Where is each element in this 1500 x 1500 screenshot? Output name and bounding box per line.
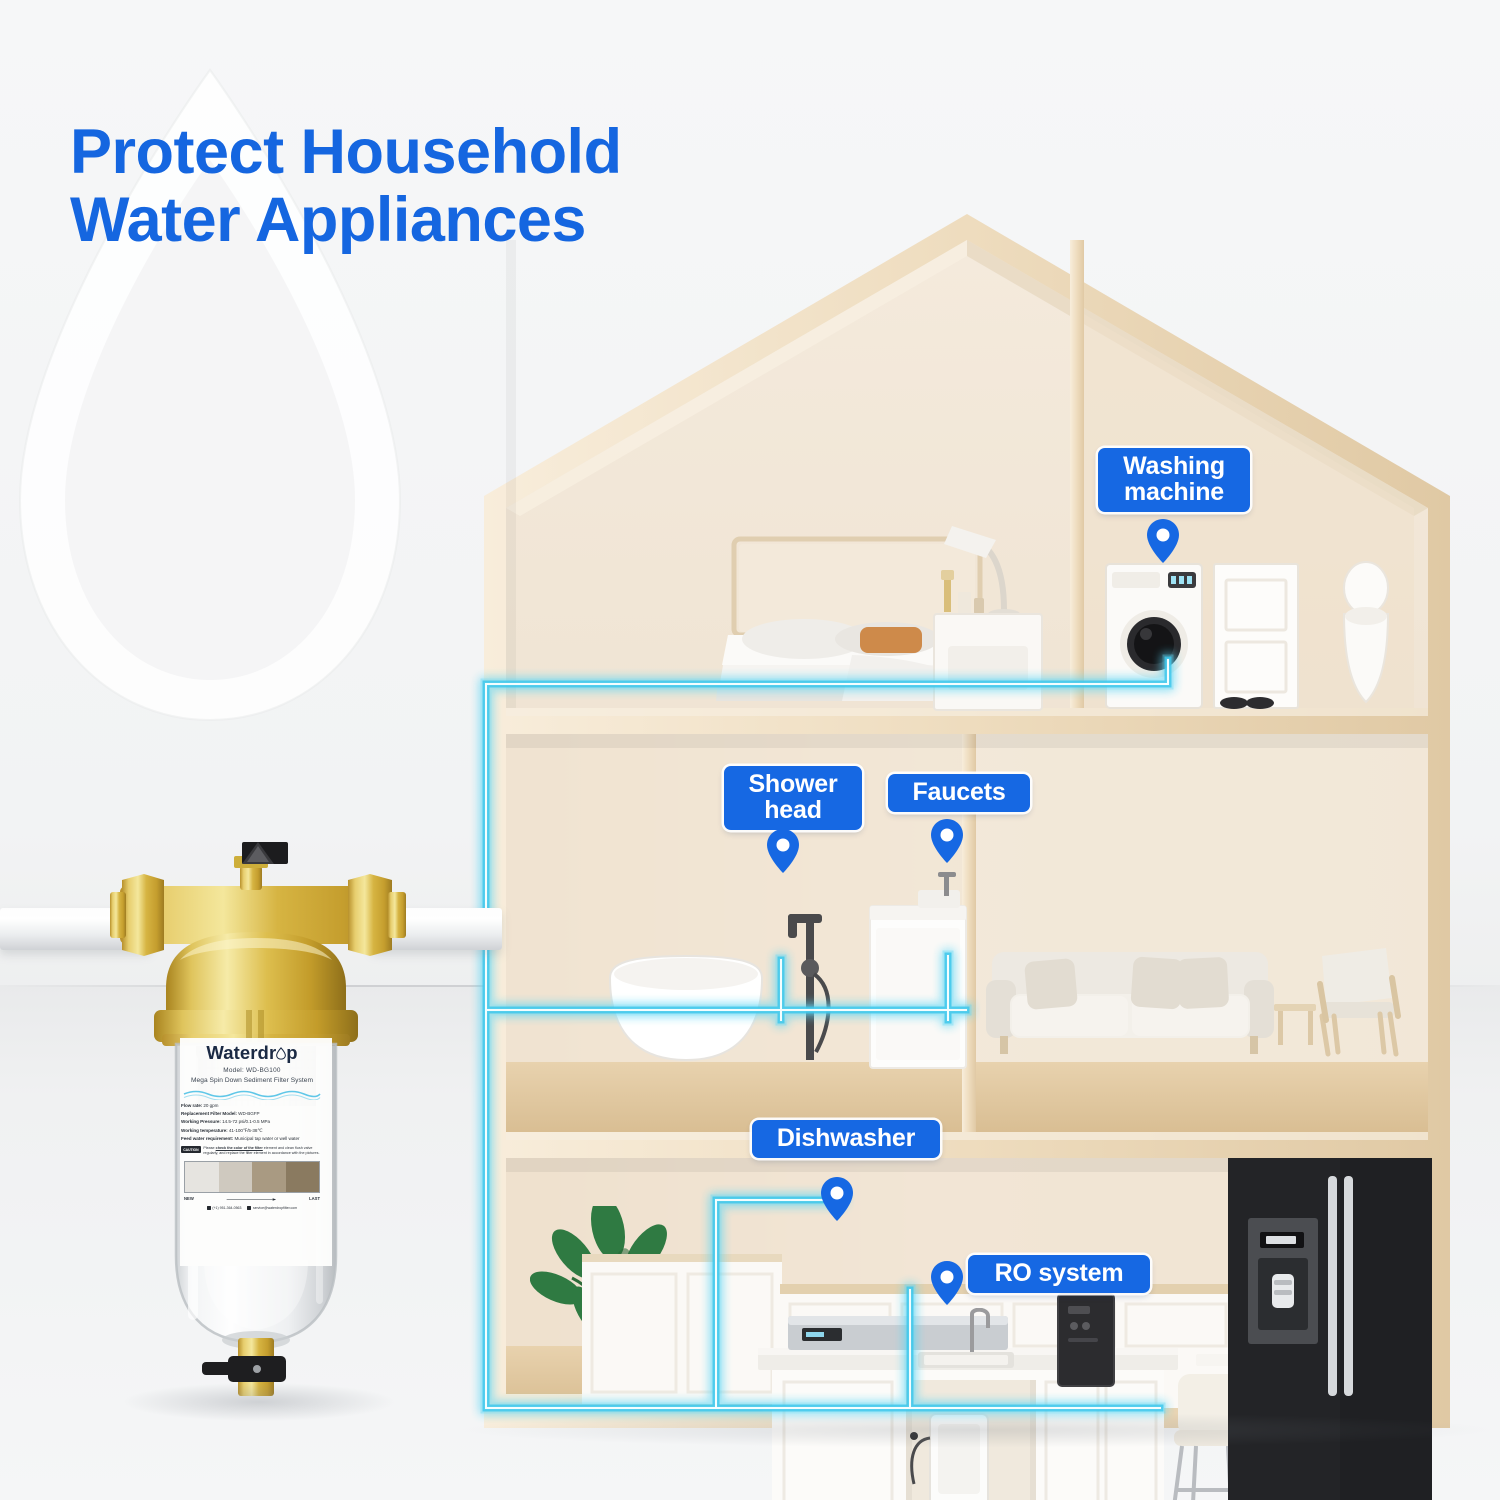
droplet-icon [276,1047,286,1060]
callout-badge-shower-head[interactable]: Shower head [724,766,862,830]
wave-divider-icon [176,1087,328,1098]
spec-list: Flow rate: 20 gpm Replacement Filter Mod… [176,1102,328,1143]
spec-row: Working Pressure: 14.5-72 psi/0.1-0.5 MP… [181,1118,323,1126]
callout-badge-washing-machine[interactable]: Washing machine [1098,448,1250,512]
spec-row: Working temperature: 41-100℉/5-38℃ [181,1127,323,1135]
swatch-last [286,1162,320,1192]
refrigerator [1228,1158,1432,1500]
map-pin-washing-machine[interactable] [1146,518,1180,564]
vanity-sink [858,872,990,1072]
swatch-3 [252,1162,286,1192]
back-cabinets [582,1254,782,1404]
contact-phone-row: (+1) 951-364-0563 [207,1206,242,1211]
product-shadow [118,1382,400,1422]
house-shadow [452,1412,1500,1448]
email-icon [247,1206,251,1211]
wear-scale: NEW LAST [184,1196,320,1201]
spec-row: Replacement Filter Model: WD-BGFP [181,1110,323,1118]
bathtub-and-shower [590,886,890,1070]
promo-graphic: Protect Household Water Appliances [0,0,1500,1500]
contact-email-row: service@waterdropfilter.com [247,1206,297,1211]
map-pin-dishwasher[interactable] [820,1176,854,1222]
nightstand-and-lamp [930,518,1070,712]
map-pin-shower-head[interactable] [766,828,800,874]
map-pin-ro-system[interactable] [930,1260,964,1306]
contact-info: (+1) 951-364-0563 service@waterdropfilte… [176,1206,328,1211]
filter-wear-swatches [184,1161,320,1193]
swatch-2 [219,1162,253,1192]
spec-row: Feed water requirement: Municipal tap wa… [181,1135,323,1143]
brand-text-part2: p [286,1042,297,1063]
swatch-new [185,1162,219,1192]
map-pin-faucets[interactable] [930,818,964,864]
product-subtitle: Mega Spin Down Sediment Filter System [176,1077,328,1084]
caution-text: Please check the color of the filter ele… [203,1146,323,1157]
waterdrop-logo: Waterdr p [176,1044,328,1063]
laundry-area [1098,558,1418,710]
callout-badge-dishwasher[interactable]: Dishwasher [752,1120,940,1158]
scale-arrow-icon [196,1197,307,1200]
phone-icon [207,1206,211,1211]
model-number: Model: WD-BG100 [176,1067,328,1074]
sofa-and-armchair [982,924,1412,1072]
caution-block: CAUTION Please check the color of the fi… [176,1146,328,1157]
caution-badge: CAUTION [181,1146,201,1152]
brand-text-part1: Waterdr [206,1042,276,1063]
product-label: Waterdr p Model: WD-BG100 Mega Spin Down… [176,1042,328,1264]
house-cutaway-illustration [462,196,1472,1428]
scale-label-last: LAST [309,1196,320,1201]
scale-label-new: NEW [184,1196,194,1201]
callout-badge-ro-system[interactable]: RO system [968,1255,1150,1293]
spec-row: Flow rate: 20 gpm [181,1102,323,1110]
callout-badge-faucets[interactable]: Faucets [888,774,1030,812]
water-dispenser [1052,1292,1124,1388]
